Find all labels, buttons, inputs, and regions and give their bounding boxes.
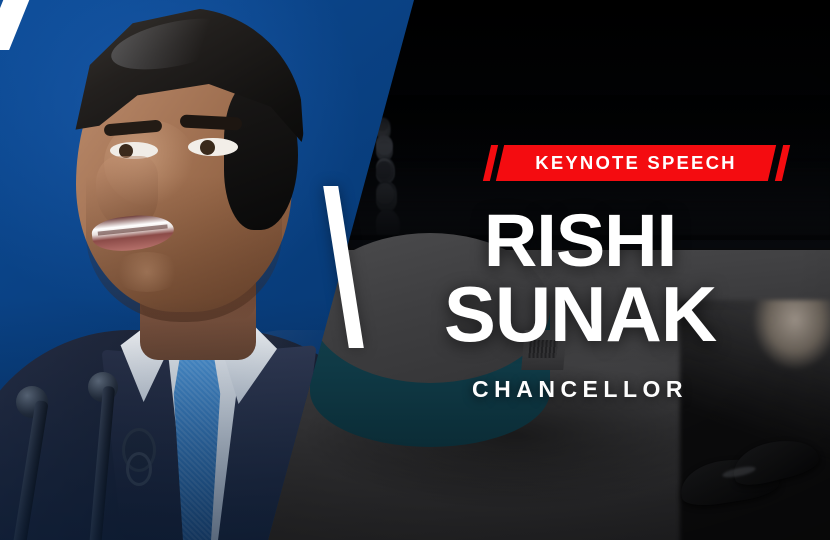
banner-label: KEYNOTE SPEECH bbox=[500, 145, 772, 181]
headline-line-1: RISHI bbox=[360, 205, 800, 276]
headline: RISHI SUNAK bbox=[360, 205, 800, 352]
subtitle: CHANCELLOR bbox=[360, 376, 800, 403]
chin-highlight bbox=[112, 252, 182, 292]
title-card: KEYNOTE SPEECH RISHI SUNAK CHANCELLOR bbox=[0, 0, 830, 540]
eye-right bbox=[188, 138, 238, 156]
headline-line-2: SUNAK bbox=[360, 277, 800, 352]
